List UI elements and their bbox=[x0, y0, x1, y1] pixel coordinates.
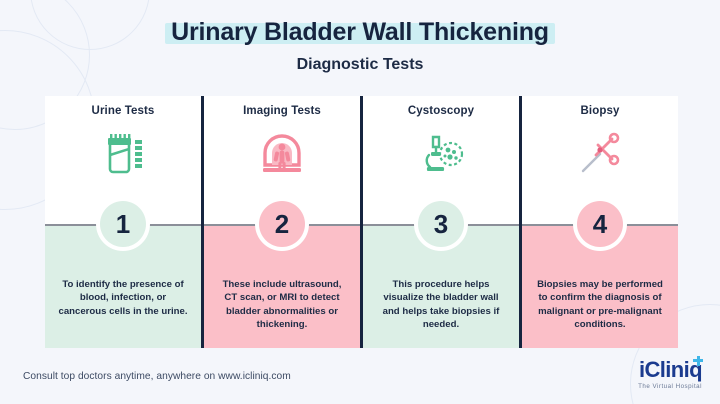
column-heading: Cystoscopy bbox=[408, 105, 474, 117]
footer-note: Consult top doctors anytime, anywhere on… bbox=[23, 371, 291, 382]
ct-scanner-icon bbox=[256, 131, 308, 177]
medical-cross-icon bbox=[693, 356, 703, 366]
step-number: 3 bbox=[418, 201, 464, 247]
step-badge: 1 bbox=[96, 197, 150, 251]
page-title: Urinary Bladder Wall Thickening bbox=[171, 18, 549, 47]
step-badge: 3 bbox=[414, 197, 468, 251]
column-heading: Biopsy bbox=[581, 105, 620, 117]
column-heading: Imaging Tests bbox=[243, 105, 321, 117]
column-description: To identify the presence of blood, infec… bbox=[56, 278, 190, 318]
step-number: 4 bbox=[577, 201, 623, 247]
column-description: This procedure helps visualize the bladd… bbox=[374, 278, 508, 332]
column-cystoscopy: Cystoscopy bbox=[363, 96, 522, 348]
step-number: 2 bbox=[259, 201, 305, 247]
diagnostic-tests-card: Urine Tests bbox=[45, 96, 678, 348]
column-heading: Urine Tests bbox=[92, 105, 155, 117]
column-description: Biopsies may be performed to confirm the… bbox=[533, 278, 667, 332]
step-number: 1 bbox=[100, 201, 146, 247]
column-urine-tests: Urine Tests bbox=[45, 96, 204, 348]
urine-sample-cup-icon bbox=[97, 131, 149, 177]
page-subtitle: Diagnostic Tests bbox=[0, 56, 720, 74]
title-wrap: Urinary Bladder Wall Thickening bbox=[171, 18, 549, 47]
icliniq-logo[interactable]: iCliniq The Virtual Hospital bbox=[638, 359, 702, 390]
column-description: These include ultrasound, CT scan, or MR… bbox=[215, 278, 349, 332]
logo-wordmark: iCliniq bbox=[639, 359, 702, 381]
biopsy-forceps-icon bbox=[574, 131, 626, 177]
microscope-icon bbox=[415, 131, 467, 177]
header: Urinary Bladder Wall Thickening Diagnost… bbox=[0, 18, 720, 74]
step-badge: 4 bbox=[573, 197, 627, 251]
step-badge: 2 bbox=[255, 197, 309, 251]
logo-tagline: The Virtual Hospital bbox=[638, 384, 702, 390]
column-imaging-tests: Imaging Tests bbox=[204, 96, 363, 348]
column-biopsy: Biopsy bbox=[522, 96, 678, 348]
